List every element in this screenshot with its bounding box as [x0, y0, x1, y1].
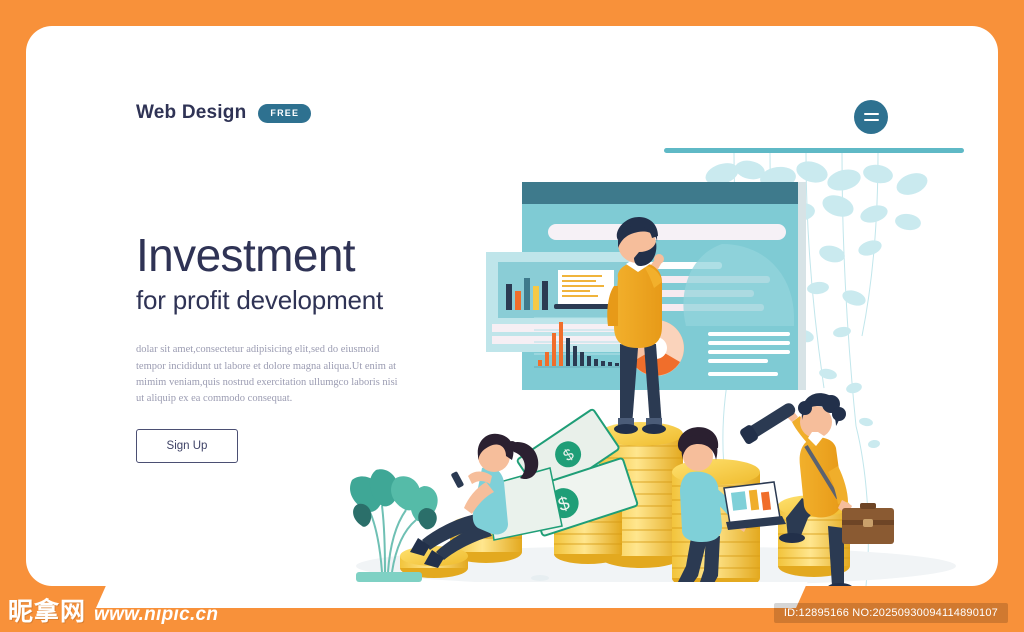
watermark-logo-cn: 昵拿网 [8, 592, 86, 628]
hamburger-line-1 [864, 113, 879, 115]
hamburger-menu-icon[interactable] [854, 100, 888, 134]
sign-up-button[interactable]: Sign Up [136, 429, 238, 463]
free-badge: FREE [258, 104, 311, 123]
hero-card: $ $ [26, 26, 998, 586]
page-subtitle: for profit development [136, 286, 456, 315]
laptop-device [724, 482, 786, 530]
hamburger-line-2 [864, 119, 879, 121]
telescope-icon [739, 399, 799, 445]
briefcase-icon [842, 503, 894, 544]
brand: Web Design FREE [136, 102, 311, 124]
page-title: Investment [136, 231, 456, 280]
brand-name: Web Design [136, 102, 246, 124]
watermark-url: www.nipic.cn [94, 604, 218, 628]
watermark-logo: 昵拿网 www.nipic.cn [8, 592, 218, 628]
page-root: $ $ [0, 0, 1024, 632]
watermark-id: ID:12895166 NO:20250930094114890107 [774, 603, 1008, 623]
teal-shelf-bar [664, 148, 964, 153]
watermark-bar: 昵拿网 www.nipic.cn ID:12895166 NO:20250930… [0, 590, 1024, 632]
hero-copy: Investment for profit development dolar … [136, 231, 456, 463]
hero-paragraph: dolar sit amet,consectetur adipisicing e… [136, 342, 404, 407]
